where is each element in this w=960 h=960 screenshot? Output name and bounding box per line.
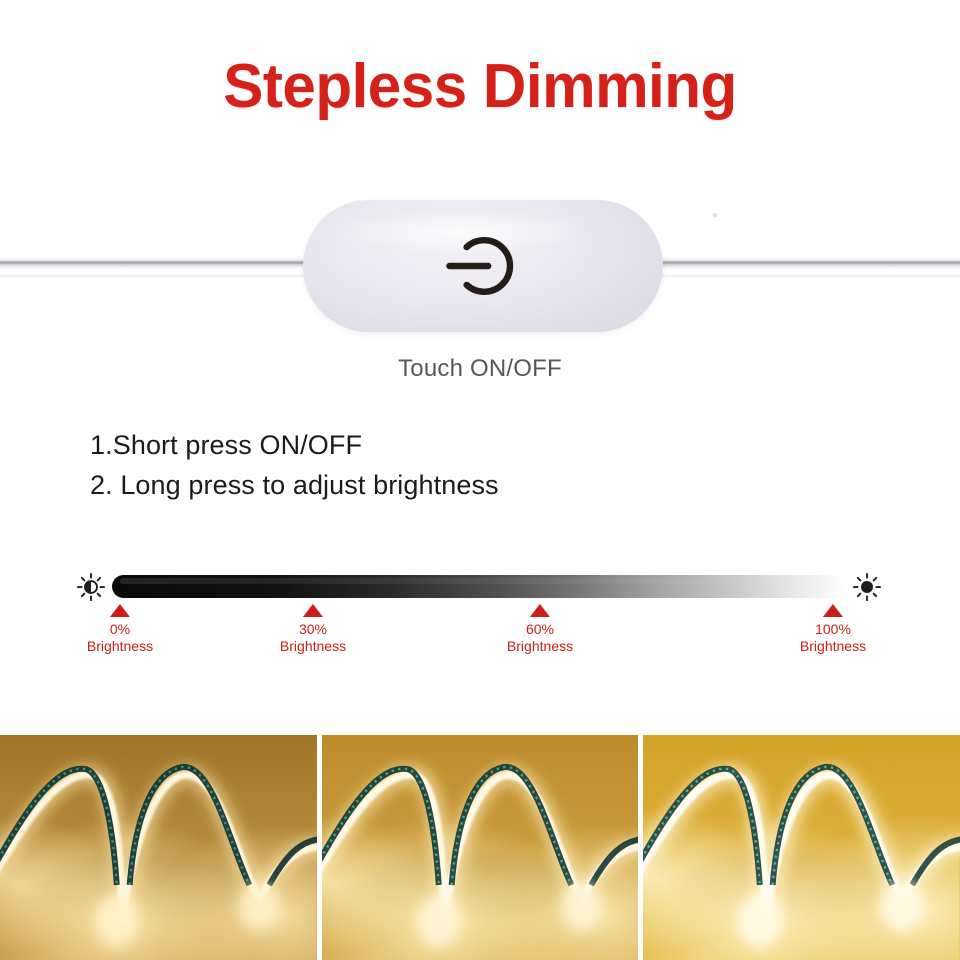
cable-right-segment xyxy=(650,256,960,278)
tick-arrow-icon xyxy=(110,604,130,617)
tick-arrow-icon xyxy=(303,604,323,617)
page-title: Stepless Dimming xyxy=(14,52,945,122)
brightness-scale: 0% Brightness 30% Brightness 60% Brightn… xyxy=(0,560,960,670)
tick-percent: 30% xyxy=(280,621,346,638)
photo-led-strip-3 xyxy=(643,735,960,960)
scale-tick: 60% Brightness xyxy=(507,604,573,655)
instruction-item-1: 1.Short press ON/OFF xyxy=(90,425,790,465)
power-icon[interactable] xyxy=(440,223,526,309)
tick-caption: Brightness xyxy=(87,638,153,655)
touch-switch-illustration xyxy=(0,198,960,336)
instruction-item-2: 2. Long press to adjust brightness xyxy=(90,465,790,505)
photo-led-strip-1 xyxy=(0,735,317,960)
switch-caption: Touch ON/OFF xyxy=(0,355,960,383)
photo-strip xyxy=(0,735,960,960)
speck-artifact xyxy=(713,213,717,217)
led-strip-wave xyxy=(0,735,317,960)
brightness-low-icon xyxy=(76,572,106,602)
tick-percent: 60% xyxy=(507,621,573,638)
tick-caption: Brightness xyxy=(800,638,866,655)
tick-caption: Brightness xyxy=(507,638,573,655)
led-strip-wave xyxy=(322,735,639,960)
scale-tick: 30% Brightness xyxy=(280,604,346,655)
cable-left-segment xyxy=(0,256,312,278)
instruction-list: 1.Short press ON/OFF 2. Long press to ad… xyxy=(90,425,790,505)
photo-led-strip-2 xyxy=(322,735,639,960)
scale-tick: 0% Brightness xyxy=(87,604,153,655)
tick-arrow-icon xyxy=(823,604,843,617)
tick-percent: 0% xyxy=(87,621,153,638)
led-strip-wave xyxy=(643,735,960,960)
tick-arrow-icon xyxy=(530,604,550,617)
tick-caption: Brightness xyxy=(280,638,346,655)
header: Stepless Dimming xyxy=(0,52,960,122)
scale-tick: 100% Brightness xyxy=(800,604,866,655)
brightness-gradient-bar[interactable] xyxy=(112,575,845,598)
brightness-high-icon xyxy=(852,572,882,602)
tick-percent: 100% xyxy=(800,621,866,638)
touch-switch-button[interactable] xyxy=(303,200,663,332)
